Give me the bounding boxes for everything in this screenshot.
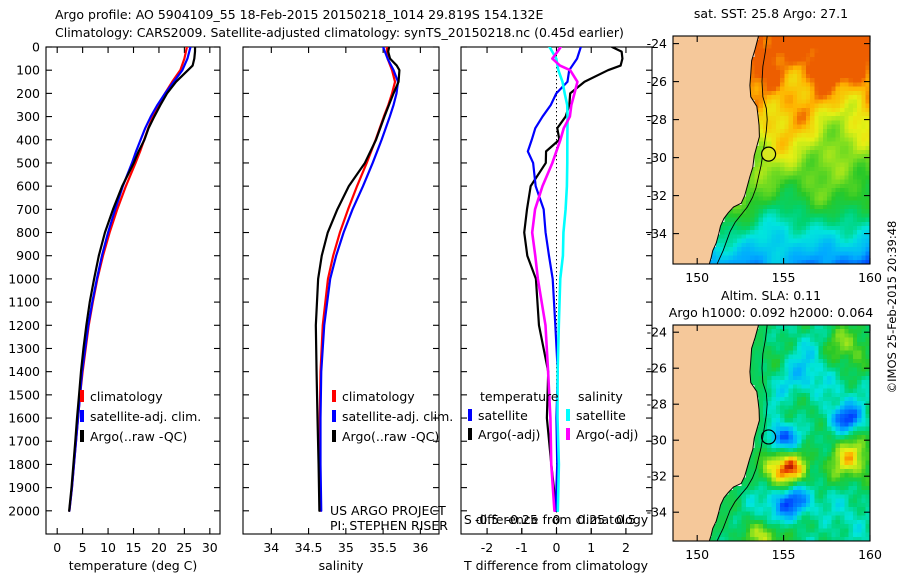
map-cell bbox=[789, 150, 794, 155]
map-cell bbox=[819, 175, 824, 180]
map-cell bbox=[836, 120, 841, 125]
map-cell bbox=[836, 435, 841, 440]
project-line1: US ARGO PROJECT bbox=[330, 503, 446, 518]
map-cell bbox=[857, 367, 862, 372]
map-cell bbox=[861, 516, 866, 521]
map-cell bbox=[793, 142, 798, 147]
map-cell bbox=[750, 486, 755, 491]
map-cell bbox=[810, 184, 815, 189]
map-cell bbox=[844, 91, 849, 96]
map-cell bbox=[840, 87, 845, 92]
map-cell bbox=[840, 494, 845, 499]
map-cell bbox=[801, 359, 806, 364]
map-cell bbox=[776, 524, 781, 529]
map-cell bbox=[849, 448, 854, 453]
map-cell bbox=[776, 256, 781, 261]
map-cell bbox=[819, 452, 824, 457]
tick-label: 1800 bbox=[8, 457, 40, 472]
map-cell bbox=[823, 435, 828, 440]
map-cell bbox=[776, 61, 781, 66]
tick-label: -26 bbox=[647, 361, 667, 376]
map-cell bbox=[827, 196, 832, 201]
map-cell bbox=[801, 473, 806, 478]
map-cell bbox=[831, 150, 836, 155]
map-cell bbox=[840, 516, 845, 521]
map-cell bbox=[772, 355, 777, 360]
map-cell bbox=[861, 192, 866, 197]
map-cell bbox=[849, 359, 854, 364]
map-cell bbox=[823, 61, 828, 66]
map-cell bbox=[840, 477, 845, 482]
map-cell bbox=[844, 44, 849, 49]
map-cell bbox=[763, 129, 768, 134]
map-cell bbox=[823, 40, 828, 45]
map-cell bbox=[767, 461, 772, 466]
map-cell bbox=[776, 175, 781, 180]
map-cell bbox=[861, 222, 866, 227]
map-cell bbox=[849, 333, 854, 338]
map-cell bbox=[810, 188, 815, 193]
tick-label: 5 bbox=[79, 540, 87, 555]
map-cell bbox=[784, 350, 789, 355]
map-cell bbox=[780, 414, 785, 419]
map-cell bbox=[793, 91, 798, 96]
map-cell bbox=[844, 482, 849, 487]
map-cell bbox=[793, 247, 798, 252]
map-cell bbox=[759, 333, 764, 338]
map-cell bbox=[814, 431, 819, 436]
map-cell bbox=[857, 444, 862, 449]
map-cell bbox=[754, 239, 759, 244]
map-cell bbox=[861, 494, 866, 499]
map-cell bbox=[810, 431, 815, 436]
map-cell bbox=[853, 70, 858, 75]
map-cell bbox=[831, 439, 836, 444]
map-cell bbox=[767, 61, 772, 66]
map-cell bbox=[733, 213, 738, 218]
map-cell bbox=[789, 477, 794, 482]
map-cell bbox=[797, 158, 802, 163]
map-cell bbox=[733, 243, 738, 248]
map-cell bbox=[797, 401, 802, 406]
map-cell bbox=[814, 95, 819, 100]
map-cell bbox=[810, 520, 815, 525]
map-cell bbox=[857, 251, 862, 256]
map-cell bbox=[840, 226, 845, 231]
map-cell bbox=[840, 120, 845, 125]
map-cell bbox=[801, 380, 806, 385]
map-cell bbox=[797, 192, 802, 197]
map-cell bbox=[797, 461, 802, 466]
map-cell bbox=[814, 150, 819, 155]
map-cell bbox=[819, 435, 824, 440]
map-cell bbox=[831, 120, 836, 125]
map-cell bbox=[784, 230, 789, 235]
map-cell bbox=[823, 218, 828, 223]
map-cell bbox=[720, 230, 725, 235]
map-cell bbox=[767, 196, 772, 201]
map-cell bbox=[861, 533, 866, 538]
map-cell bbox=[853, 40, 858, 45]
map-cell bbox=[840, 482, 845, 487]
map-cell bbox=[827, 167, 832, 172]
map-cell bbox=[840, 192, 845, 197]
map-cell bbox=[789, 78, 794, 83]
map-cell bbox=[746, 251, 751, 256]
map-cell bbox=[840, 448, 845, 453]
map-cell bbox=[861, 325, 866, 330]
map-cell bbox=[810, 53, 815, 58]
map-cell bbox=[759, 503, 764, 508]
map-cell bbox=[797, 209, 802, 214]
map-cell bbox=[772, 401, 777, 406]
map-cell bbox=[746, 209, 751, 214]
temperature-legend: climatology satellite-adj. clim. Argo(..… bbox=[80, 389, 201, 444]
map-cell bbox=[831, 99, 836, 104]
map-cell bbox=[767, 95, 772, 100]
map-cell bbox=[853, 192, 858, 197]
map-cell bbox=[759, 256, 764, 261]
map-cell bbox=[746, 516, 751, 521]
map-cell bbox=[797, 524, 802, 529]
map-cell bbox=[767, 66, 772, 71]
map-cell bbox=[793, 167, 798, 172]
legend-label-climatology: climatology bbox=[342, 389, 415, 404]
map-cell bbox=[789, 418, 794, 423]
map-cell bbox=[793, 346, 798, 351]
map-cell bbox=[754, 342, 759, 347]
map-cell bbox=[737, 243, 742, 248]
map-cell bbox=[819, 520, 824, 525]
map-cell bbox=[759, 499, 764, 504]
tick-label: -34 bbox=[647, 505, 667, 520]
map-cell bbox=[840, 503, 845, 508]
map-cell bbox=[819, 99, 824, 104]
map-cell bbox=[767, 520, 772, 525]
map-cell bbox=[754, 477, 759, 482]
map-cell bbox=[810, 116, 815, 121]
map-cell bbox=[793, 213, 798, 218]
map-cell bbox=[767, 74, 772, 79]
map-cell bbox=[754, 213, 759, 218]
map-cell bbox=[857, 393, 862, 398]
map-cell bbox=[772, 528, 777, 533]
map-cell bbox=[849, 120, 854, 125]
map-cell bbox=[857, 329, 862, 334]
map-cell bbox=[857, 104, 862, 109]
map-cell bbox=[780, 36, 785, 41]
map-cell bbox=[767, 477, 772, 482]
map-cell bbox=[737, 533, 742, 538]
map-cell bbox=[789, 158, 794, 163]
map-cell bbox=[750, 499, 755, 504]
map-cell bbox=[814, 175, 819, 180]
legend-label-s-argo: Argo(-adj) bbox=[576, 427, 638, 442]
map-cell bbox=[759, 230, 764, 235]
map-cell bbox=[801, 40, 806, 45]
map-cell bbox=[789, 329, 794, 334]
map-cell bbox=[831, 448, 836, 453]
map-cell bbox=[853, 184, 858, 189]
map-cell bbox=[831, 490, 836, 495]
map-cell bbox=[772, 180, 777, 185]
map-cell bbox=[754, 346, 759, 351]
map-cell bbox=[823, 380, 828, 385]
map-cell bbox=[724, 503, 729, 508]
map-cell bbox=[831, 74, 836, 79]
map-cell bbox=[831, 533, 836, 538]
map-cell bbox=[819, 427, 824, 432]
map-cell bbox=[789, 239, 794, 244]
map-cell bbox=[767, 247, 772, 252]
map-cell bbox=[844, 524, 849, 529]
map-cell bbox=[784, 427, 789, 432]
map-cell bbox=[823, 213, 828, 218]
map-cell bbox=[810, 490, 815, 495]
map-cell bbox=[776, 389, 781, 394]
legend-swatch-satellite-adj bbox=[80, 410, 84, 422]
map-cell bbox=[819, 108, 824, 113]
map-cell bbox=[750, 209, 755, 214]
map-cell bbox=[780, 44, 785, 49]
map-cell bbox=[849, 222, 854, 227]
map-cell bbox=[840, 325, 845, 330]
map-cell bbox=[793, 329, 798, 334]
map-cell bbox=[823, 44, 828, 49]
map-cell bbox=[806, 511, 811, 516]
map-cell bbox=[806, 70, 811, 75]
map-cell bbox=[806, 418, 811, 423]
map-cell bbox=[849, 133, 854, 138]
map-cell bbox=[836, 469, 841, 474]
map-cell bbox=[793, 380, 798, 385]
map-cell bbox=[827, 355, 832, 360]
map-cell bbox=[767, 116, 772, 121]
map-cell bbox=[827, 452, 832, 457]
map-cell bbox=[780, 230, 785, 235]
map-cell bbox=[819, 469, 824, 474]
map-cell bbox=[780, 125, 785, 130]
map-cell bbox=[853, 209, 858, 214]
map-cell bbox=[754, 61, 759, 66]
map-cell bbox=[853, 213, 858, 218]
map-cell bbox=[861, 376, 866, 381]
map-cell bbox=[844, 226, 849, 231]
map-cell bbox=[793, 469, 798, 474]
map-cell bbox=[793, 230, 798, 235]
map-cell bbox=[729, 251, 734, 256]
map-cell bbox=[784, 533, 789, 538]
copyright-text: ©IMOS 25-Feb-2015 20:39:48 bbox=[885, 221, 899, 394]
map-cell bbox=[831, 129, 836, 134]
map-cell bbox=[759, 389, 764, 394]
map-cell bbox=[810, 99, 815, 104]
map-cell bbox=[724, 218, 729, 223]
map-cell bbox=[819, 405, 824, 410]
map-cell bbox=[831, 57, 836, 62]
map-cell bbox=[814, 234, 819, 239]
map-cell bbox=[784, 184, 789, 189]
map-cell bbox=[861, 486, 866, 491]
map-cell bbox=[819, 473, 824, 478]
map-cell bbox=[789, 74, 794, 79]
map-cell bbox=[780, 325, 785, 330]
map-cell bbox=[823, 511, 828, 516]
map-cell bbox=[742, 247, 747, 252]
map-cell bbox=[797, 452, 802, 457]
map-cell bbox=[823, 338, 828, 343]
map-cell bbox=[840, 146, 845, 151]
map-cell bbox=[844, 175, 849, 180]
map-cell bbox=[831, 226, 836, 231]
temperature-y-ticks: 0100200300400500600700800900100011001200… bbox=[8, 40, 220, 519]
map-cell bbox=[840, 175, 845, 180]
map-cell bbox=[861, 74, 866, 79]
map-cell bbox=[840, 376, 845, 381]
map-cell bbox=[840, 116, 845, 121]
map-cell bbox=[784, 61, 789, 66]
map-cell bbox=[844, 49, 849, 54]
map-cell bbox=[772, 91, 777, 96]
map-cell bbox=[819, 154, 824, 159]
map-cell bbox=[836, 346, 841, 351]
map-cell bbox=[759, 516, 764, 521]
map-cell bbox=[772, 367, 777, 372]
map-cell bbox=[759, 44, 764, 49]
map-cell bbox=[853, 66, 858, 71]
map-cell bbox=[793, 218, 798, 223]
map-cell bbox=[853, 410, 858, 415]
map-cell bbox=[801, 91, 806, 96]
map-cell bbox=[750, 218, 755, 223]
map-cell bbox=[810, 350, 815, 355]
map-cell bbox=[797, 116, 802, 121]
map-cell bbox=[784, 444, 789, 449]
map-cell bbox=[767, 372, 772, 377]
map-cell bbox=[836, 40, 841, 45]
map-cell bbox=[814, 142, 819, 147]
map-cell bbox=[857, 401, 862, 406]
map-cell bbox=[853, 188, 858, 193]
map-cell bbox=[776, 154, 781, 159]
map-cell bbox=[806, 393, 811, 398]
map-cell bbox=[814, 456, 819, 461]
map-cell bbox=[827, 256, 832, 261]
map-cell bbox=[780, 247, 785, 252]
map-cell bbox=[759, 401, 764, 406]
map-cell bbox=[801, 397, 806, 402]
map-cell bbox=[844, 372, 849, 377]
map-cell bbox=[810, 333, 815, 338]
map-cell bbox=[784, 333, 789, 338]
map-cell bbox=[801, 125, 806, 130]
map-cell bbox=[789, 401, 794, 406]
map-cell bbox=[814, 342, 819, 347]
map-cell bbox=[814, 167, 819, 172]
map-cell bbox=[840, 401, 845, 406]
map-cell bbox=[844, 70, 849, 75]
map-cell bbox=[840, 384, 845, 389]
map-cell bbox=[849, 218, 854, 223]
map-cell bbox=[733, 251, 738, 256]
map-cell bbox=[772, 350, 777, 355]
map-cell bbox=[801, 108, 806, 113]
map-cell bbox=[861, 44, 866, 49]
sla-map-title-line1: Altim. SLA: 0.11 bbox=[721, 288, 821, 303]
map-cell bbox=[754, 209, 759, 214]
map-cell bbox=[789, 108, 794, 113]
map-cell bbox=[827, 171, 832, 176]
map-cell bbox=[819, 158, 824, 163]
map-cell bbox=[861, 410, 866, 415]
map-cell bbox=[801, 222, 806, 227]
map-cell bbox=[763, 533, 768, 538]
map-cell bbox=[806, 251, 811, 256]
map-cell bbox=[827, 158, 832, 163]
map-cell bbox=[776, 251, 781, 256]
argo-float-marker[interactable] bbox=[762, 147, 776, 161]
map-cell bbox=[814, 465, 819, 470]
map-cell bbox=[776, 196, 781, 201]
map-cell bbox=[793, 490, 798, 495]
map-cell bbox=[844, 401, 849, 406]
map-cell bbox=[793, 410, 798, 415]
map-cell bbox=[759, 112, 764, 117]
map-cell bbox=[780, 137, 785, 142]
map-cell bbox=[789, 129, 794, 134]
map-cell bbox=[772, 201, 777, 206]
map-cell bbox=[780, 133, 785, 138]
map-cell bbox=[806, 397, 811, 402]
map-cell bbox=[861, 380, 866, 385]
map-cell bbox=[806, 129, 811, 134]
map-cell bbox=[810, 465, 815, 470]
map-cell bbox=[789, 503, 794, 508]
map-cell bbox=[767, 338, 772, 343]
map-cell bbox=[793, 74, 798, 79]
map-cell bbox=[857, 196, 862, 201]
map-cell bbox=[857, 150, 862, 155]
map-cell bbox=[814, 256, 819, 261]
project-line2: PI: STEPHEN RISER bbox=[330, 518, 448, 533]
map-cell bbox=[823, 461, 828, 466]
map-cell bbox=[754, 359, 759, 364]
map-cell bbox=[853, 389, 858, 394]
map-cell bbox=[793, 53, 798, 58]
map-cell bbox=[780, 209, 785, 214]
map-cell bbox=[861, 435, 866, 440]
map-cell bbox=[793, 146, 798, 151]
map-cell bbox=[801, 247, 806, 252]
map-cell bbox=[793, 456, 798, 461]
map-cell bbox=[831, 511, 836, 516]
map-cell bbox=[836, 401, 841, 406]
map-cell bbox=[836, 53, 841, 58]
map-cell bbox=[853, 511, 858, 516]
map-cell bbox=[840, 196, 845, 201]
map-cell bbox=[750, 494, 755, 499]
map-cell bbox=[857, 465, 862, 470]
map-cell bbox=[780, 239, 785, 244]
map-cell bbox=[763, 66, 768, 71]
map-cell bbox=[797, 205, 802, 210]
map-cell bbox=[814, 490, 819, 495]
tick-label: -28 bbox=[647, 397, 667, 412]
map-cell bbox=[836, 444, 841, 449]
map-cell bbox=[857, 66, 862, 71]
map-cell bbox=[806, 431, 811, 436]
map-cell bbox=[857, 243, 862, 248]
